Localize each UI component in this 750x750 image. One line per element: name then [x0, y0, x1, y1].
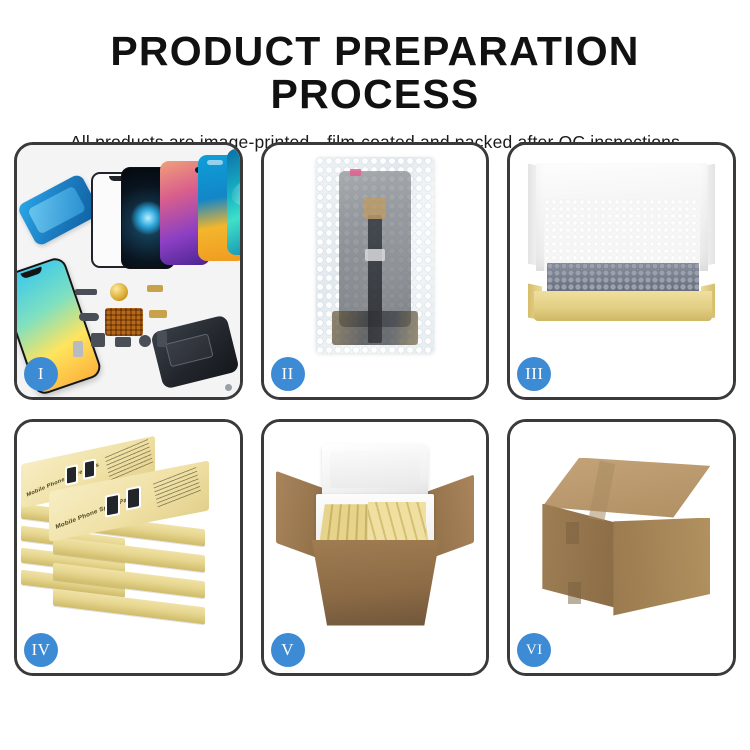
- carton-front-tab-lower: [568, 582, 581, 604]
- box-print-phone-2: [83, 458, 96, 480]
- screw-part: [225, 384, 232, 391]
- small-part-a: [75, 289, 97, 295]
- box-print-text-block-front: [153, 466, 201, 507]
- pink-label-tag: [350, 169, 361, 176]
- box-print-phone-3: [105, 492, 120, 517]
- product-preparation-page: PRODUCT PREPARATION PROCESS All products…: [0, 0, 750, 750]
- box-print-phone-1: [65, 464, 78, 486]
- carton-side-face: [613, 518, 710, 616]
- copper-mesh-part: [105, 308, 143, 336]
- bottom-components: [332, 311, 418, 345]
- carton-body: [312, 540, 440, 626]
- process-step-1: I: [14, 142, 243, 400]
- styrofoam-lid: [322, 444, 428, 498]
- open-kraft-tray-box-image: III: [510, 145, 733, 397]
- foam-sheet: [544, 199, 700, 271]
- carton-top-face: [542, 458, 710, 518]
- process-step-2: II: [261, 142, 490, 400]
- bubble-wrapped-screen-image: II: [264, 145, 487, 397]
- small-part-i: [73, 341, 83, 357]
- stacked-spare-parts-boxes-image: Mobile Phone Spare Parts Mobile Phone Sp…: [17, 422, 240, 674]
- small-part-b: [147, 285, 163, 292]
- step-badge-1: I: [24, 357, 58, 391]
- phone-back-housing: [150, 314, 240, 389]
- inner-kraft-boxes-angled: [368, 502, 426, 546]
- kraft-box-tray: [534, 291, 712, 321]
- box-print-phone-4: [126, 485, 141, 510]
- step-badge-4: IV: [24, 633, 58, 667]
- step-badge-6: VI: [517, 633, 551, 667]
- small-part-h: [157, 331, 167, 347]
- speaker-module-part: [110, 283, 128, 301]
- process-step-3: III: [507, 142, 736, 400]
- process-step-5: V: [261, 419, 490, 677]
- cable-connector: [365, 249, 385, 261]
- page-title: PRODUCT PREPARATION PROCESS: [0, 30, 750, 116]
- page-header: PRODUCT PREPARATION PROCESS All products…: [0, 0, 750, 154]
- process-step-4: Mobile Phone Spare Parts Mobile Phone Sp…: [14, 419, 243, 677]
- bubble-wrap-bag: [316, 157, 434, 353]
- small-part-g: [139, 335, 151, 347]
- blue-back-cover: [17, 173, 102, 247]
- process-step-grid: I II: [14, 142, 736, 676]
- small-part-f: [115, 337, 131, 347]
- process-step-6: VI: [507, 419, 736, 677]
- small-part-c: [79, 313, 99, 321]
- small-part-d: [149, 310, 167, 318]
- carton-with-foam-cooler-image: V: [264, 422, 487, 674]
- teal-wave-phone: [227, 149, 240, 255]
- sealed-shipping-carton-image: VI: [510, 422, 733, 674]
- carton-front-tab-upper: [566, 522, 579, 544]
- box-label-front: Mobile Phone Spare Parts: [55, 493, 136, 531]
- step-badge-3: III: [517, 357, 551, 391]
- small-part-e: [91, 333, 105, 347]
- step-badge-2: II: [271, 357, 305, 391]
- phones-and-spare-parts-image: I: [17, 145, 240, 397]
- step-badge-5: V: [271, 633, 305, 667]
